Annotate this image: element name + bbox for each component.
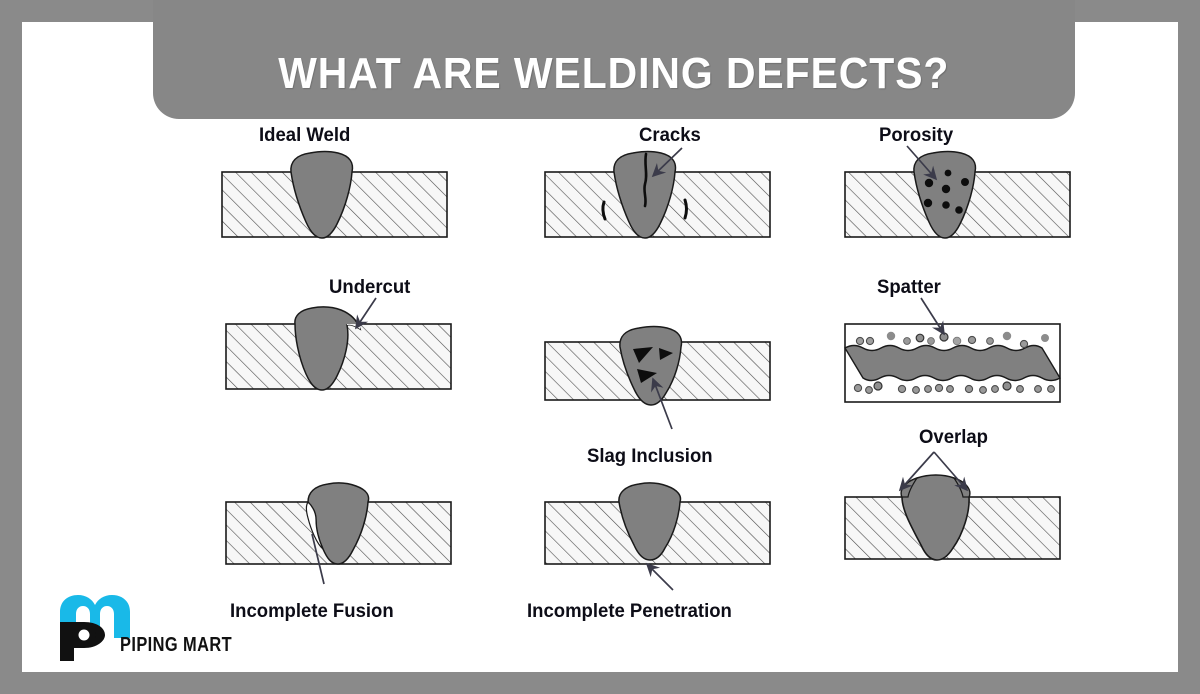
page-title: WHAT ARE WELDING DEFECTS? <box>278 49 949 99</box>
diagram-incomplete-fusion: Incomplete Fusion <box>204 472 464 592</box>
diagram-porosity: Porosity <box>817 110 1077 270</box>
caption-spatter: Spatter <box>877 276 941 299</box>
crack-line-center <box>644 154 646 206</box>
logo[interactable]: PIPING MART <box>52 592 252 664</box>
incomplete-fusion-figure <box>204 472 464 592</box>
caption-overlap: Overlap <box>919 426 988 449</box>
spatter-figure <box>817 262 1067 422</box>
pointer-arrow <box>647 564 673 590</box>
caption-porosity: Porosity <box>879 124 953 147</box>
diagram-slag-inclusion: Slag Inclusion <box>527 307 787 437</box>
infographic-canvas: WHAT ARE WELDING DEFECTS? Ideal Weld Cra… <box>22 22 1178 672</box>
diagram-ideal-weld: Ideal Weld <box>204 110 464 270</box>
weld-seam-band <box>845 346 1060 381</box>
crack-line-right <box>685 200 687 218</box>
caption-incomplete-penetration: Incomplete Penetration <box>527 600 732 623</box>
title-banner: WHAT ARE WELDING DEFECTS? <box>153 0 1075 119</box>
slag-inclusion-figure <box>527 307 787 437</box>
diagram-spatter: Spatter <box>817 262 1067 422</box>
diagram-incomplete-penetration: Incomplete Penetration <box>517 472 797 592</box>
caption-cracks: Cracks <box>639 124 701 147</box>
diagram-cracks: Cracks <box>527 110 787 270</box>
diagram-undercut: Undercut <box>204 262 464 422</box>
caption-undercut: Undercut <box>329 276 410 299</box>
caption-slag-inclusion: Slag Inclusion <box>587 445 713 468</box>
incomplete-penetration-figure <box>517 472 797 592</box>
logo-p-icon <box>60 622 105 661</box>
caption-ideal-weld: Ideal Weld <box>259 124 350 147</box>
caption-incomplete-fusion: Incomplete Fusion <box>230 600 394 623</box>
diagram-overlap: Overlap <box>817 412 1067 572</box>
logo-brand-text: PIPING MART <box>120 634 232 657</box>
